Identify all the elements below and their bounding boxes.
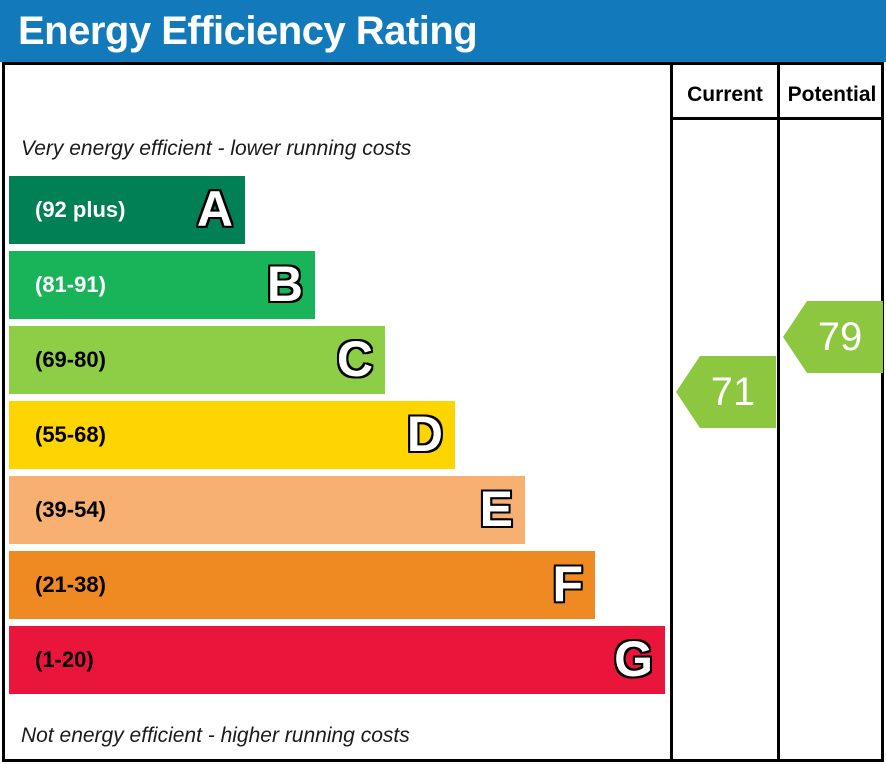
current-rating-value: 71 [698, 356, 768, 428]
column-divider-potential [777, 65, 780, 759]
potential-rating-value: 79 [805, 301, 875, 373]
rating-band-a-letter: A [197, 176, 233, 244]
rating-band-f-letter: F [552, 551, 583, 619]
rating-band-d-range: (55-68) [35, 401, 106, 469]
rating-band-a-range: (92 plus) [35, 176, 125, 244]
caption-very-efficient: Very energy efficient - lower running co… [21, 137, 411, 161]
page-title: Energy Efficiency Rating [18, 8, 477, 54]
rating-band-f-range: (21-38) [35, 551, 106, 619]
rating-band-g: (1-20) G [9, 626, 665, 694]
potential-rating-marker: 79 [783, 301, 883, 373]
rating-band-c-range: (69-80) [35, 326, 106, 394]
rating-band-g-range: (1-20) [35, 626, 94, 694]
rating-table: Current Potential Very energy efficient … [2, 62, 884, 762]
rating-band-d: (55-68) D [9, 401, 455, 469]
rating-band-e: (39-54) E [9, 476, 525, 544]
rating-band-b-range: (81-91) [35, 251, 106, 319]
column-header-potential: Potential [780, 75, 884, 115]
title-band: Energy Efficiency Rating [0, 0, 886, 62]
rating-band-e-range: (39-54) [35, 476, 106, 544]
rating-band-a: (92 plus) A [9, 176, 245, 244]
rating-band-b-letter: B [267, 251, 303, 319]
caption-not-efficient: Not energy efficient - higher running co… [21, 724, 410, 748]
energy-efficiency-rating-chart: Energy Efficiency Rating Current Potenti… [0, 0, 886, 764]
rating-band-c-letter: C [337, 326, 373, 394]
rating-band-g-letter: G [614, 626, 653, 694]
column-header-current: Current [673, 75, 777, 115]
rating-band-d-letter: D [407, 401, 443, 469]
rating-band-c: (69-80) C [9, 326, 385, 394]
rating-band-b: (81-91) B [9, 251, 315, 319]
rating-band-f: (21-38) F [9, 551, 595, 619]
current-rating-marker: 71 [676, 356, 776, 428]
rating-band-e-letter: E [480, 476, 513, 544]
column-divider-current [670, 65, 673, 759]
